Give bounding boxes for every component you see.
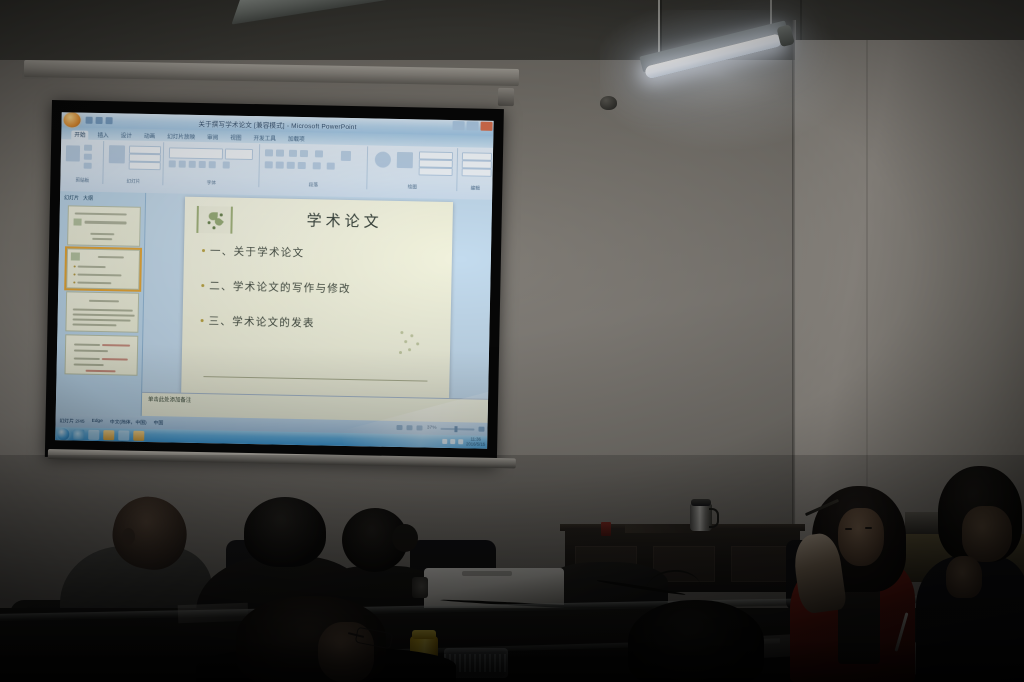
bullet-dot-icon: [201, 319, 204, 322]
paste-icon[interactable]: [66, 145, 80, 161]
strikethrough-icon[interactable]: [209, 161, 216, 168]
tab-design[interactable]: 设计: [118, 131, 135, 140]
zoom-slider[interactable]: [440, 427, 474, 430]
steel-thermos-kettle: [690, 498, 716, 531]
shape-effects-button[interactable]: [419, 167, 453, 176]
ribbon-group-paragraph[interactable]: 段落: [260, 144, 368, 189]
normal-view-icon[interactable]: [397, 425, 403, 430]
tab-insert[interactable]: 插入: [94, 131, 111, 140]
system-tray[interactable]: 11:36 2016/5/15: [442, 436, 485, 447]
bold-icon[interactable]: [169, 160, 176, 167]
bullet-dot-icon: [201, 284, 204, 287]
conference-room-scene: 关于撰写学术论文 [兼容模式] - Microsoft PowerPoint 开…: [0, 0, 1024, 682]
slide-thumbnail-selected[interactable]: 2: [66, 248, 140, 289]
line-spacing-icon[interactable]: [315, 150, 323, 157]
internet-explorer-icon[interactable]: [73, 429, 84, 439]
powerpoint-window[interactable]: 关于撰写学术论文 [兼容模式] - Microsoft PowerPoint 开…: [55, 112, 493, 449]
slide-editing-area[interactable]: 学术论文 一、关于学术论文 二、学术论文的写作与修改: [142, 193, 492, 423]
justify-icon[interactable]: [298, 162, 306, 169]
tab-home[interactable]: 开始: [71, 130, 88, 139]
font-name-select[interactable]: [169, 147, 223, 159]
ribbon-group-label: 字体: [164, 179, 258, 187]
screen-housing-endcap: [498, 88, 514, 106]
underline-icon[interactable]: [189, 161, 196, 168]
theme-name: Edge: [92, 419, 103, 424]
slideshow-icon[interactable]: [417, 425, 423, 430]
copy-icon[interactable]: [84, 154, 92, 160]
projection-screen: 关于撰写学术论文 [兼容模式] - Microsoft PowerPoint 开…: [45, 100, 504, 466]
numbering-icon[interactable]: [276, 150, 284, 157]
minimize-icon[interactable]: [452, 121, 464, 130]
bullet-text: 二、学术论文的写作与修改: [209, 278, 351, 296]
fit-to-window-icon[interactable]: [478, 427, 484, 432]
zoom-slider-handle[interactable]: [454, 426, 457, 432]
projector-lens: [412, 577, 428, 598]
status-bar-right[interactable]: 37%: [397, 425, 485, 432]
ribbon-group-label: 段落: [260, 181, 366, 189]
taskbar-clock[interactable]: 11:36 2016/5/15: [466, 437, 485, 447]
increase-indent-icon[interactable]: [300, 150, 308, 157]
bullet-dot-icon: [202, 249, 205, 252]
slide-bullet-item: 一、关于学术论文: [202, 243, 440, 263]
person-center-left-head: [244, 497, 326, 567]
cut-icon[interactable]: [84, 145, 92, 151]
language-indicator: 中文(简体，中国): [110, 418, 147, 426]
bullet-text: 三、学术论文的发表: [208, 313, 314, 330]
slide-indicator: 幻灯片 2/45: [59, 417, 84, 425]
red-cup: [601, 522, 611, 536]
pane-tab-strip[interactable]: 幻灯片 大纲: [62, 193, 143, 204]
tab-addins[interactable]: 加载项: [285, 135, 308, 144]
ribbon-group-label: 绘图: [368, 183, 456, 191]
current-slide[interactable]: 学术论文 一、关于学术论文 二、学术论文的写作与修改: [181, 197, 453, 398]
slide-sorter-icon[interactable]: [407, 425, 413, 430]
paper-documents: [178, 603, 249, 623]
person-red-jacket-face: [838, 508, 884, 566]
person-center-hair-bun: [392, 524, 418, 552]
columns-icon[interactable]: [313, 162, 321, 169]
ribbon-group-clipboard[interactable]: 剪贴板: [62, 140, 104, 184]
maximize-icon[interactable]: [466, 121, 478, 130]
person-far-right-hand: [946, 556, 982, 598]
italic-icon[interactable]: [179, 161, 186, 168]
shadow-icon[interactable]: [199, 161, 206, 168]
yellow-jar-cap: [412, 630, 436, 639]
eye: [865, 527, 872, 529]
tab-view[interactable]: 视图: [227, 134, 244, 143]
kettle-lid: [691, 499, 711, 506]
powerpoint-window-icon[interactable]: [118, 430, 129, 440]
powerpoint-workspace: 幻灯片 大纲 1 2: [56, 191, 492, 423]
align-left-icon[interactable]: [265, 161, 273, 168]
projection-surface: 关于撰写学术论文 [兼容模式] - Microsoft PowerPoint 开…: [55, 112, 493, 449]
bullet-text: 一、关于学术论文: [210, 243, 305, 260]
convert-smartart-icon[interactable]: [341, 151, 351, 161]
slide-thumbnail[interactable]: 3: [65, 291, 139, 332]
tray-network-icon[interactable]: [442, 439, 447, 444]
align-center-icon[interactable]: [276, 162, 284, 169]
explorer-window-icon[interactable]: [133, 430, 144, 440]
person-left-ear: [122, 528, 135, 545]
select-button[interactable]: [462, 168, 492, 177]
ribbon-group-label: 幻灯片: [104, 178, 162, 185]
slide-thumbnail-pane[interactable]: 幻灯片 大纲 1 2: [56, 191, 146, 416]
credenza-items: [625, 524, 695, 533]
wall-right-seam: [866, 40, 868, 560]
font-size-select[interactable]: [225, 148, 253, 160]
clock-date: 2016/5/15: [466, 442, 485, 447]
slide-thumbnail[interactable]: 4: [64, 334, 138, 375]
ribbon-group-label: 剪贴板: [62, 177, 102, 184]
tray-volume-icon[interactable]: [450, 439, 455, 444]
eye: [845, 528, 852, 530]
media-player-icon[interactable]: [88, 429, 99, 439]
font-color-icon[interactable]: [223, 161, 230, 168]
ceiling-sensor-icon: [600, 96, 617, 110]
spellcheck-indicator: 中国: [154, 419, 164, 426]
zoom-level: 37%: [427, 426, 437, 431]
projector-vent: [462, 571, 512, 576]
format-painter-icon[interactable]: [84, 163, 92, 169]
fan-blade-icon: [231, 0, 438, 25]
decrease-indent-icon[interactable]: [289, 150, 297, 157]
tab-animations[interactable]: 动画: [141, 132, 158, 141]
start-button[interactable]: [57, 428, 69, 440]
slide-divider-line: [203, 376, 427, 381]
align-right-icon[interactable]: [287, 162, 295, 169]
tray-security-icon[interactable]: [458, 439, 463, 444]
ceiling-fan: [235, 0, 565, 28]
person-far-right-face: [962, 506, 1012, 562]
shapes-icon[interactable]: [375, 151, 391, 167]
ribbon-group-editing[interactable]: 编辑: [458, 148, 493, 192]
bullets-icon[interactable]: [265, 149, 273, 156]
ribbon-group-font[interactable]: 字体: [164, 142, 260, 187]
kettle-handle: [709, 508, 719, 528]
new-slide-icon[interactable]: [109, 145, 125, 163]
delete-button[interactable]: [129, 162, 161, 171]
arrange-icon[interactable]: [397, 152, 413, 168]
tab-review[interactable]: 审阅: [204, 133, 221, 142]
ribbon-group-drawing[interactable]: 绘图: [368, 146, 458, 191]
slide-bullet-item: 二、学术论文的写作与修改: [201, 278, 439, 298]
person-foreground-center-head: [628, 600, 764, 682]
slide-thumbnail[interactable]: 1: [67, 205, 141, 246]
window-controls[interactable]: [452, 121, 492, 131]
pane-tab-outline[interactable]: 大纲: [83, 195, 93, 202]
folder-window-icon[interactable]: [103, 430, 114, 440]
ribbon-group-label: 编辑: [458, 185, 492, 192]
close-icon[interactable]: [480, 122, 492, 131]
text-direction-icon[interactable]: [327, 163, 335, 170]
credenza-panel: [731, 546, 793, 582]
slide-petal-decoration: [396, 329, 425, 356]
ribbon-group-slides[interactable]: 幻灯片: [104, 141, 164, 185]
pane-tab-slides[interactable]: 幻灯片: [64, 194, 79, 201]
slide-title: 学术论文: [244, 208, 444, 233]
slide-decoration-image: [196, 206, 233, 234]
